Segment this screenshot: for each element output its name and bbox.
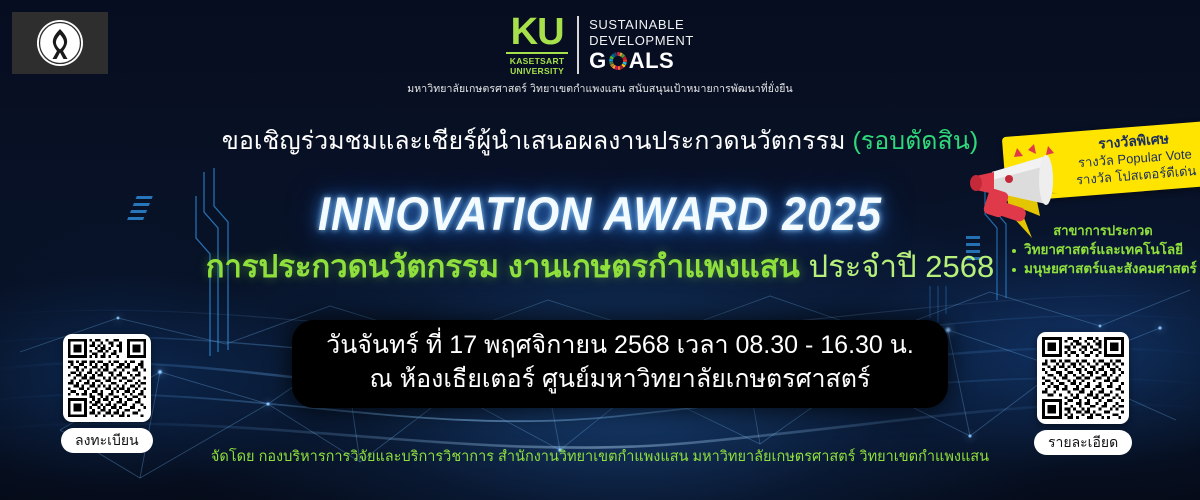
qr-details-card[interactable]	[1037, 332, 1129, 424]
date-venue-panel: วันจันทร์ ที่ 17 พฤศจิกายน 2568 เวลา 08.…	[292, 320, 948, 408]
qr-register-block[interactable]: ลงทะเบียน	[61, 334, 153, 453]
headline-main: ขอเชิญร่วมชมและเชียร์ผู้นำเสนอผลงานประกว…	[222, 127, 853, 155]
sdg-goals-suffix: ALS	[629, 49, 675, 73]
qr-code-register-icon[interactable]	[68, 339, 146, 417]
event-banner: KU KASETSART UNIVERSITY SUSTAINABLE DEVE…	[0, 0, 1200, 500]
headline-highlight: (รอบตัดสิน)	[852, 127, 978, 155]
event-venue: ณ ห้องเธียเตอร์ ศูนย์มหาวิทยาลัยเกษตรศาส…	[302, 362, 938, 396]
qr-register-label[interactable]: ลงทะเบียน	[61, 428, 153, 453]
subtitle-bold: การประกวดนวัตกรรม งานเกษตรกำแพงแสน	[206, 249, 809, 284]
category-item-2: มนุษยศาสตร์และสังคมศาสตร์	[1006, 261, 1200, 277]
qr-register-card[interactable]	[63, 334, 151, 422]
category-item-1: วิทยาศาสตร์และเทคโนโลยี	[1006, 242, 1200, 258]
category-label-1: วิทยาศาสตร์และเทคโนโลยี	[1024, 242, 1183, 258]
ku-sdg-logo: KU KASETSART UNIVERSITY SUSTAINABLE DEVE…	[0, 14, 1200, 97]
ku-logo: KU KASETSART UNIVERSITY	[506, 14, 577, 76]
bullet-dot-icon	[1012, 249, 1016, 253]
competition-categories: สาขาการประกวด วิทยาศาสตร์และเทคโนโลยี มน…	[1006, 222, 1200, 277]
sdg-goals-word: G	[589, 49, 694, 73]
qr-details-block[interactable]: รายละเอียด	[1034, 332, 1132, 455]
qr-details-label[interactable]: รายละเอียด	[1034, 430, 1132, 455]
categories-title: สาขาการประกวด	[1006, 222, 1200, 239]
logo-divider	[577, 16, 579, 74]
sdg-logo: SUSTAINABLE DEVELOPMENT G	[589, 14, 694, 76]
ku-sub-line1: KASETSART	[510, 56, 565, 66]
logo-caption: มหาวิทยาลัยเกษตรศาสตร์ วิทยาเขตกำแพงแสน …	[407, 80, 793, 97]
logo-row: KU KASETSART UNIVERSITY SUSTAINABLE DEVE…	[506, 14, 694, 76]
ku-rule	[506, 52, 568, 54]
sdg-line-1: SUSTAINABLE	[589, 17, 694, 33]
sdg-goals-prefix: G	[589, 49, 607, 73]
ku-sub-line2: UNIVERSITY	[510, 66, 564, 76]
ku-mark-text: KU	[511, 14, 564, 50]
qr-code-details-icon[interactable]	[1042, 337, 1124, 419]
sdg-color-wheel-icon	[608, 51, 628, 71]
organizer-footer: จัดโดย กองบริหารการวิจัยและบริการวิชาการ…	[0, 447, 1200, 467]
bullet-dot-icon	[1012, 268, 1016, 272]
category-label-2: มนุษยศาสตร์และสังคมศาสตร์	[1024, 261, 1197, 277]
event-date-time: วันจันทร์ ที่ 17 พฤศจิกายน 2568 เวลา 08.…	[302, 328, 938, 362]
sdg-line-2: DEVELOPMENT	[589, 33, 694, 49]
